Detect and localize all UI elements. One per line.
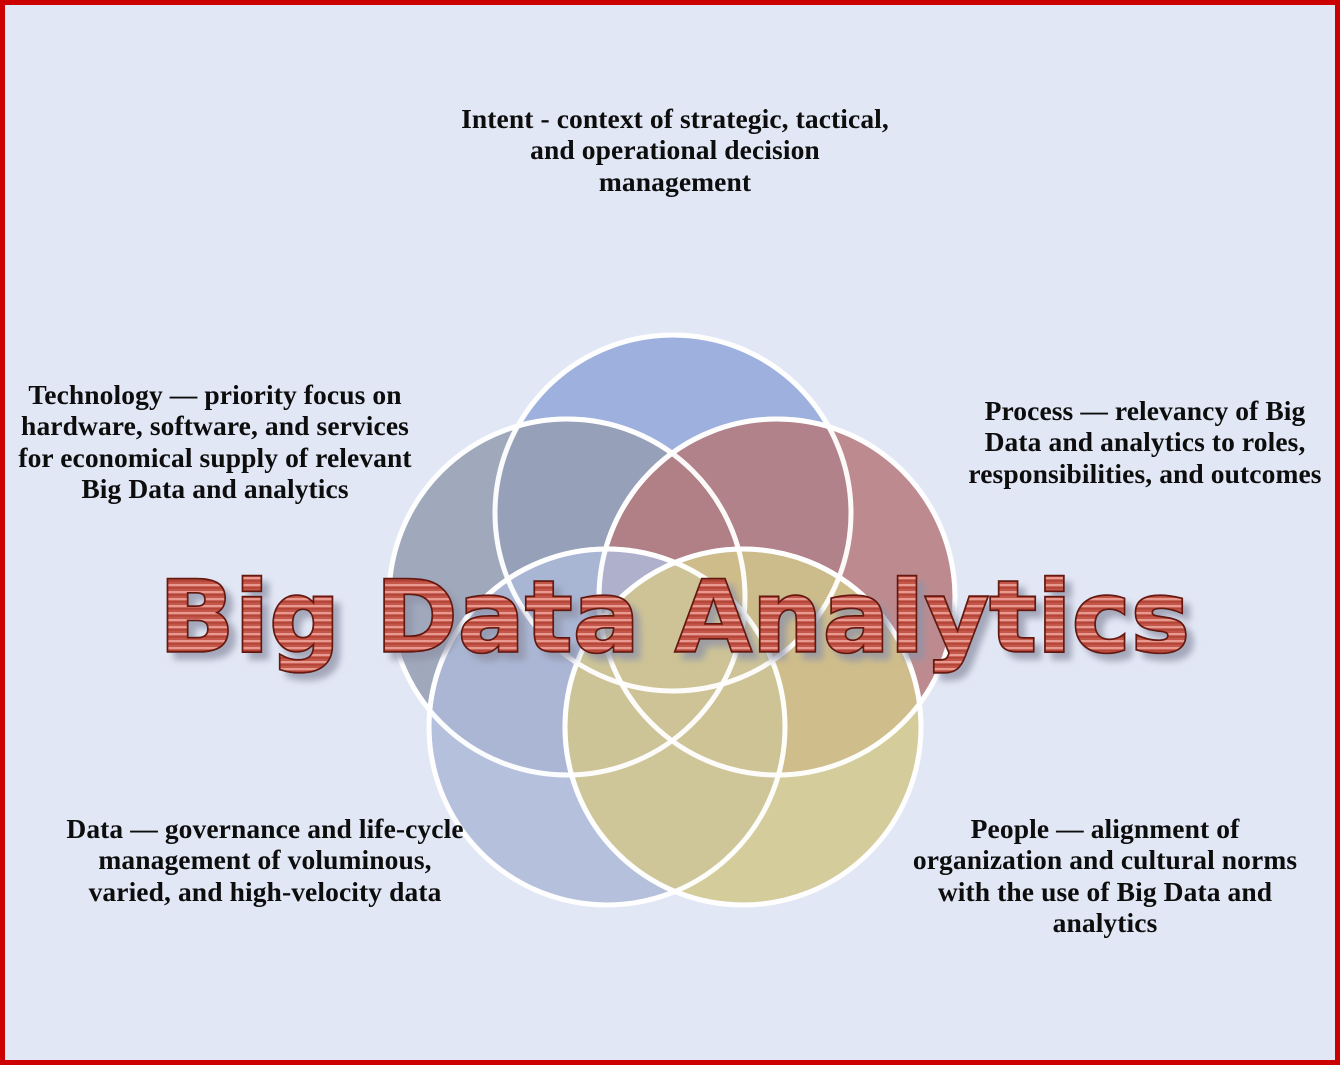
label-data: Data — governance and life-cycle managem…	[55, 813, 475, 907]
label-intent: Intent - context of strategic, tactical,…	[460, 103, 890, 197]
label-people: People — alignment of organization and c…	[895, 813, 1315, 938]
diagram-canvas: Intent - context of strategic, tactical,…	[0, 0, 1340, 1065]
label-technology: Technology — priority focus on hardware,…	[15, 379, 415, 504]
label-process: Process — relevancy of Big Data and anal…	[960, 395, 1330, 489]
